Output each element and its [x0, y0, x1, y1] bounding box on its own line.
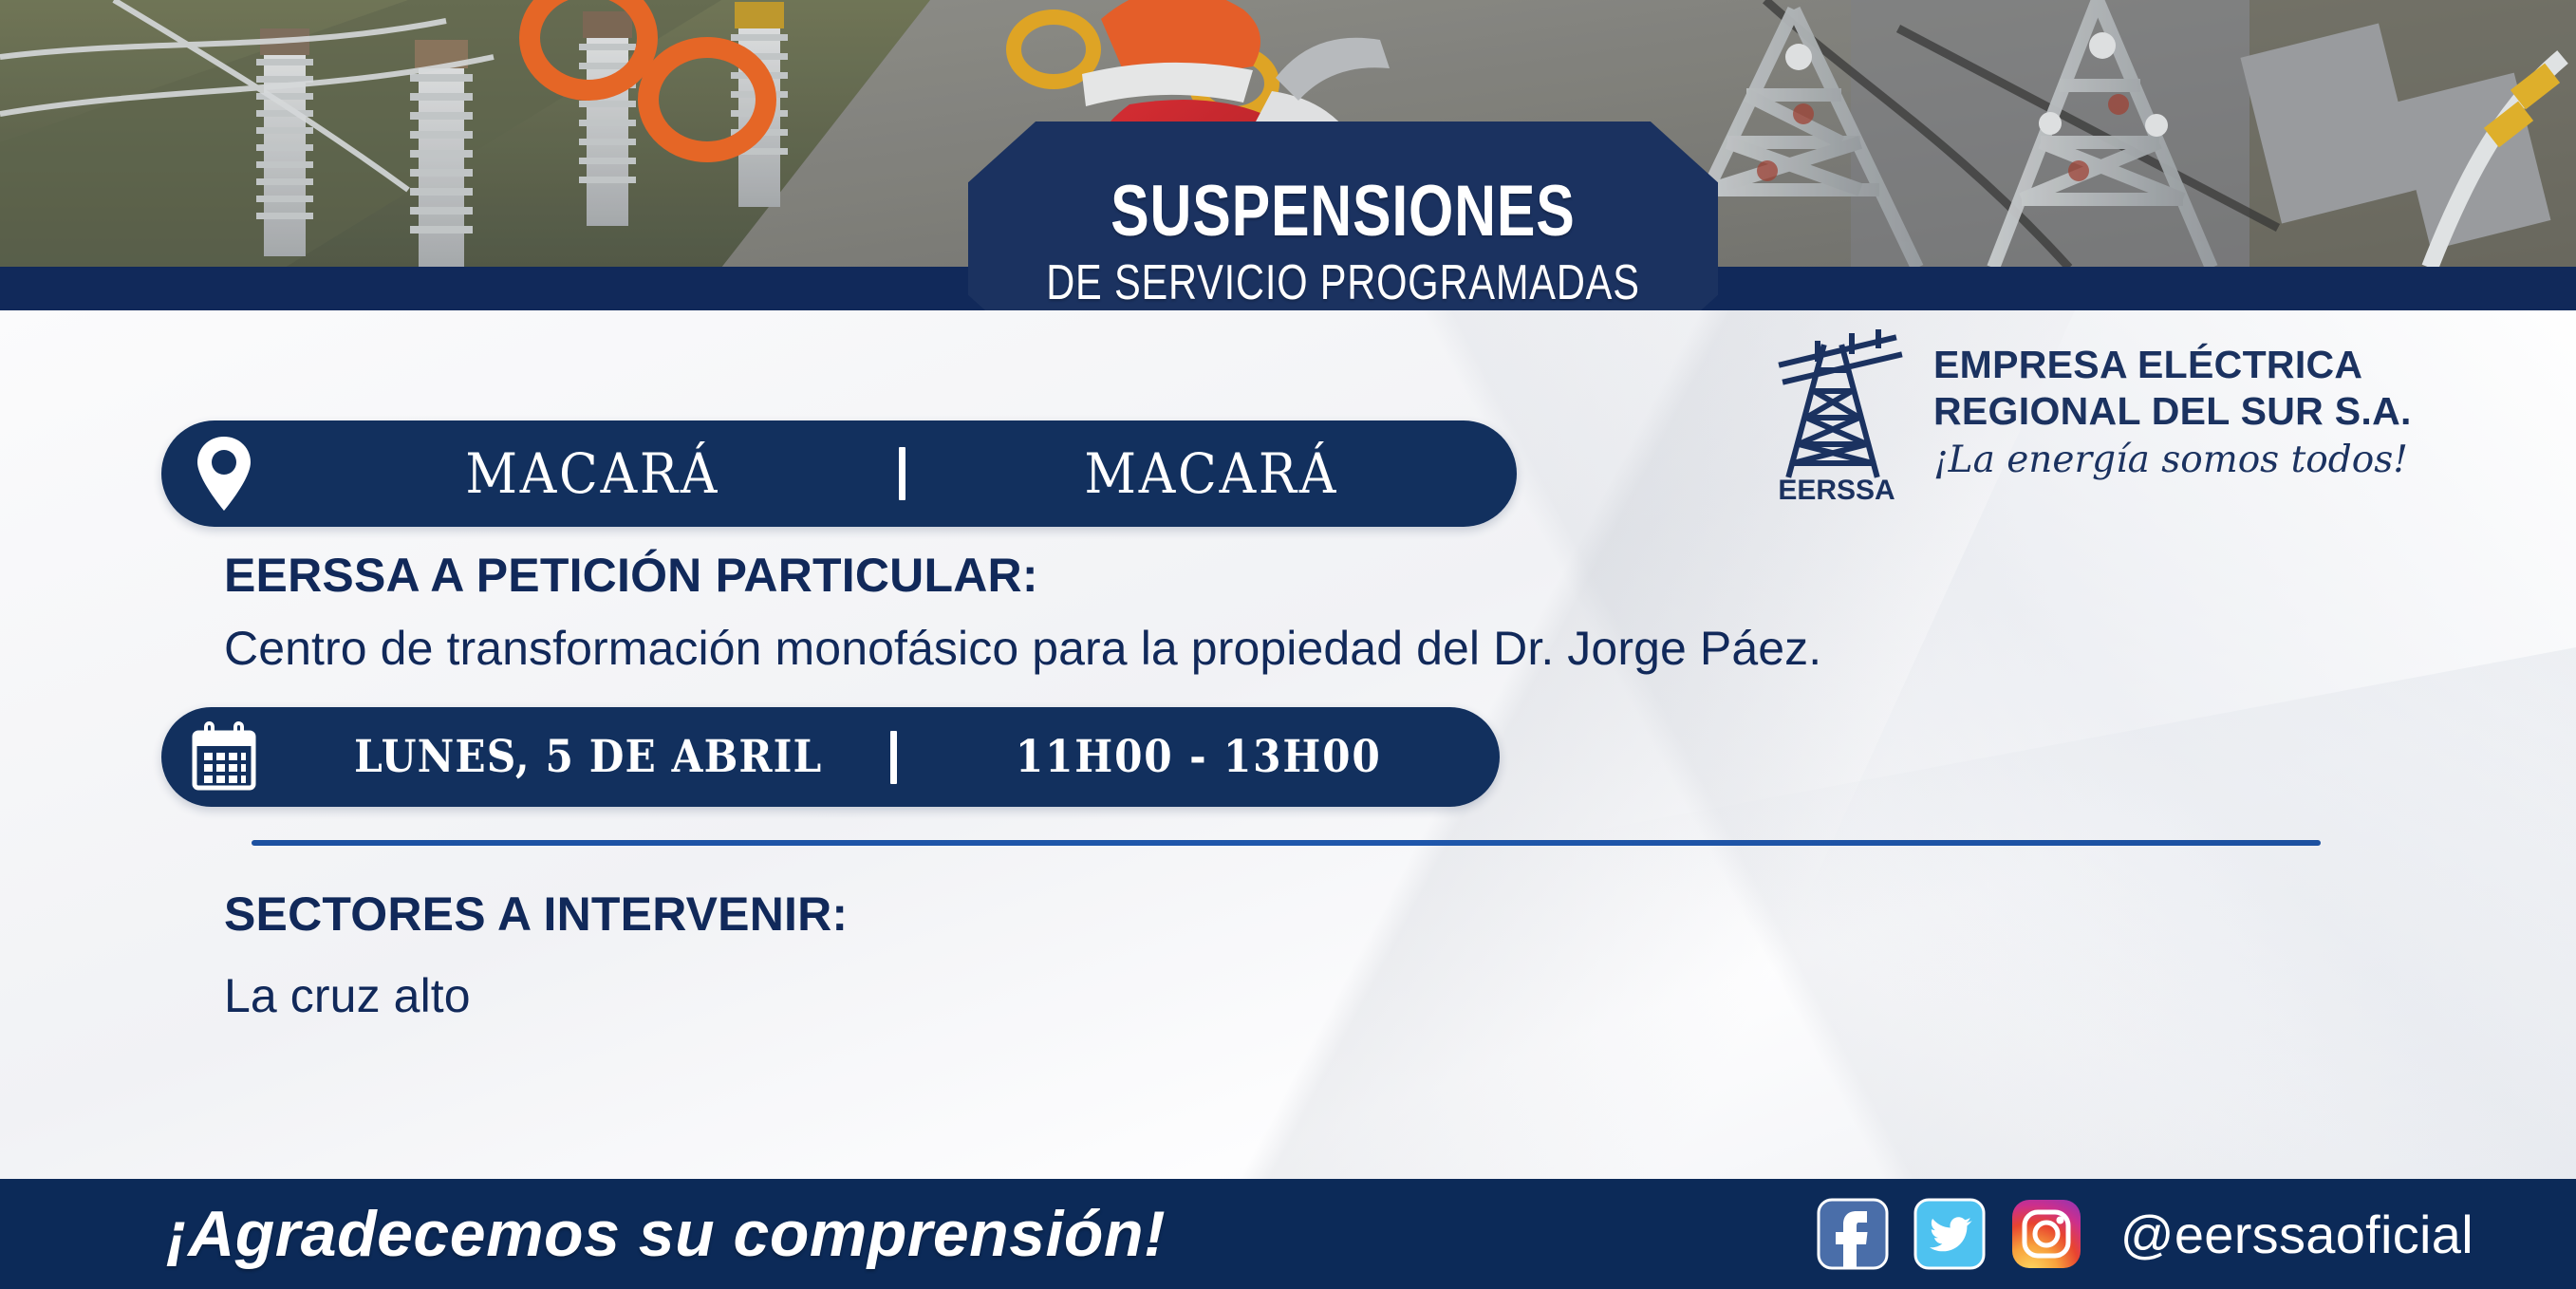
petition-heading: EERSSA A PETICIÓN PARTICULAR:: [224, 548, 1038, 603]
banner-subtitle: DE SERVICIO PROGRAMADAS: [1046, 257, 1640, 309]
pill-separator: [890, 731, 897, 784]
suspension-time: 11H00 - 13H00: [926, 731, 1469, 783]
banner-title: SUSPENSIONES: [1111, 176, 1575, 248]
logo-line-2: REGIONAL DEL SUR S.A.: [1933, 388, 2412, 434]
location-canton: MACARÁ: [311, 441, 874, 506]
logo-slogan: ¡La energía somos todos!: [1933, 438, 2412, 484]
footer-bar: ¡Agradecemos su comprensión!: [0, 1179, 2576, 1289]
sectors-heading: SECTORES A INTERVENIR:: [224, 887, 848, 942]
logo-mark-label: EERSSA: [1778, 475, 1895, 503]
instagram-icon[interactable]: [2010, 1198, 2082, 1270]
suspension-notice-poster: SUSPENSIONES DE SERVICIO PROGRAMADAS: [0, 0, 2576, 1289]
location-pill: MACARÁ MACARÁ: [161, 420, 1517, 527]
map-pin-icon: [161, 435, 287, 513]
social-handle: @eerssaoficial: [2120, 1204, 2473, 1265]
sectors-list: La cruz alto: [224, 968, 471, 1023]
suspension-date: LUNES, 5 DE ABRIL: [317, 731, 860, 783]
transmission-tower-icon: EERSSA: [1761, 323, 1913, 503]
calendar-icon: [161, 721, 287, 794]
footer-message: ¡Agradecemos su comprensión!: [166, 1197, 1166, 1271]
twitter-icon[interactable]: [1913, 1198, 1986, 1270]
petition-description: Centro de transformación monofásico para…: [224, 621, 1821, 676]
logo-line-1: EMPRESA ELÉCTRICA: [1933, 342, 2412, 387]
eerssa-logo: EERSSA EMPRESA ELÉCTRICA REGIONAL DEL SU…: [1761, 323, 2412, 503]
pill-separator: [899, 447, 905, 500]
location-parish: MACARÁ: [929, 441, 1492, 506]
section-divider: [252, 840, 2321, 846]
date-time-pill: LUNES, 5 DE ABRIL 11H00 - 13H00: [161, 707, 1500, 807]
background-swoosh-lower: [1152, 514, 2576, 1179]
logo-text-block: EMPRESA ELÉCTRICA REGIONAL DEL SUR S.A. …: [1933, 342, 2412, 484]
facebook-icon[interactable]: [1817, 1198, 1889, 1270]
social-links: @eerssaoficial: [1817, 1198, 2473, 1270]
